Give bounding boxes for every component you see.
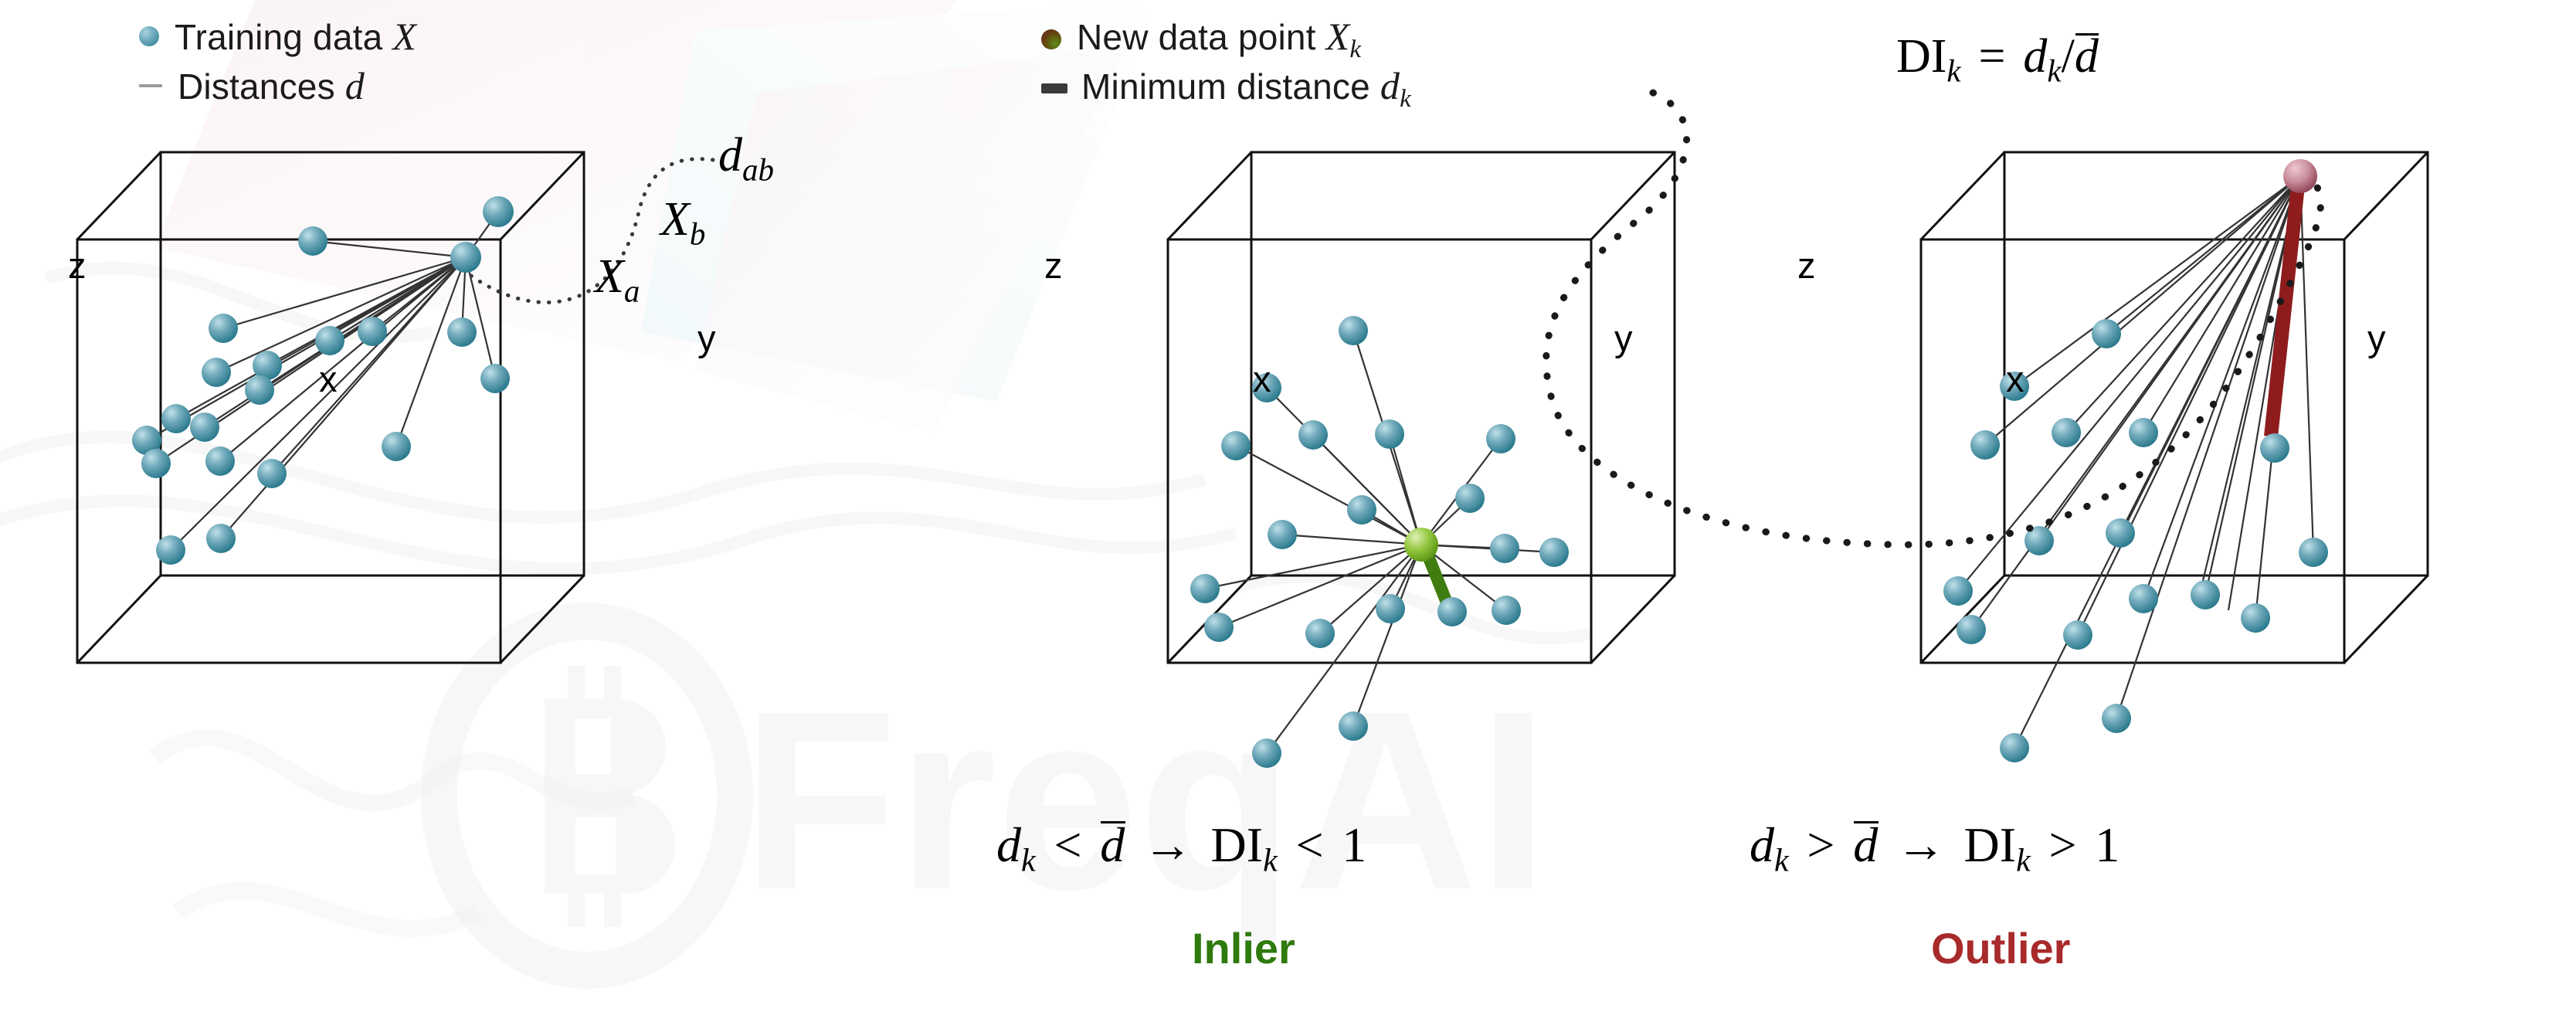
formula-outlier-condition: dk > d → DIk > 1 bbox=[1750, 820, 2120, 878]
legend-item-distances: Distances d bbox=[139, 63, 365, 108]
verdict-outlier: Outlier bbox=[1931, 923, 2070, 973]
legend-item-minimum-distance: Minimum distance dk bbox=[1041, 63, 1411, 114]
legend-label-distances: Distances d bbox=[178, 63, 365, 108]
training-data-dot-icon bbox=[139, 26, 159, 46]
new-data-point-dot-icon bbox=[1041, 29, 1061, 49]
panel-outlier-cube bbox=[1921, 152, 2428, 762]
axis-label-y-panel-3: y bbox=[2367, 317, 2386, 359]
axis-label-x-panel-1: x bbox=[319, 358, 338, 400]
neighbor-point-xb bbox=[483, 196, 514, 227]
axis-label-z-panel-3: z bbox=[1797, 244, 1816, 287]
axis-label-z-panel-2: z bbox=[1044, 244, 1063, 287]
label-xb: Xb bbox=[660, 195, 705, 250]
formula-di-definition: DIk = dk/d bbox=[1896, 32, 2099, 87]
formula-inlier-condition: dk < d → DIk < 1 bbox=[996, 820, 1366, 878]
legend-label-training-data: Training data X bbox=[175, 14, 416, 59]
label-dab: dab bbox=[718, 131, 774, 186]
minimum-distance-bar-icon bbox=[1041, 83, 1067, 93]
axis-label-x-panel-3: x bbox=[2006, 358, 2024, 400]
new-data-point-inlier bbox=[1404, 528, 1438, 562]
axis-label-y-panel-1: y bbox=[697, 317, 716, 359]
diagram-stage: FreqAI bbox=[0, 0, 2576, 1022]
cube-wireframe-2 bbox=[1168, 152, 1675, 663]
hub-point-xa bbox=[450, 242, 481, 273]
axis-label-z-panel-1: z bbox=[68, 244, 87, 287]
distance-dash-icon bbox=[139, 84, 162, 87]
legend-item-training-data: Training data X bbox=[139, 14, 416, 59]
verdict-inlier: Inlier bbox=[1192, 923, 1295, 973]
axis-label-x-panel-2: x bbox=[1253, 358, 1271, 400]
label-xa: Xa bbox=[595, 253, 640, 307]
legend-label-new-data-point: New data point Xk bbox=[1077, 14, 1361, 64]
legend-label-minimum-distance: Minimum distance dk bbox=[1081, 63, 1411, 114]
axis-label-y-panel-2: y bbox=[1614, 317, 1633, 359]
panel-training-cube bbox=[77, 152, 718, 663]
legend-item-new-data-point: New data point Xk bbox=[1041, 14, 1361, 64]
new-data-point-outlier bbox=[2283, 159, 2317, 193]
dotted-connector-legend-to-outlier bbox=[1546, 93, 2321, 545]
cube-wireframe-3 bbox=[1921, 152, 2428, 663]
